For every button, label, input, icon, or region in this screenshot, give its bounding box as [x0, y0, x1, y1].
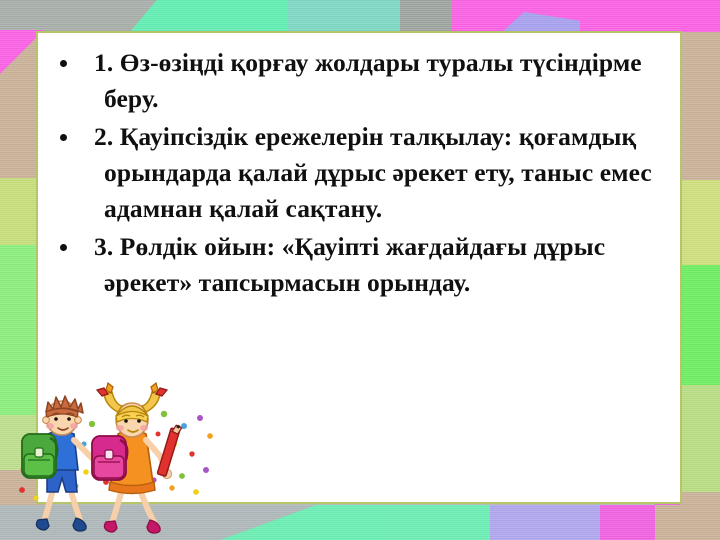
background-shape-right-green-2: [680, 385, 720, 500]
boy-backpack: [22, 434, 57, 478]
lesson-task-list: 1. Өз-өзіңді қорғау жолдары туралы түсін…: [56, 45, 656, 303]
background-shape-bottom-tan: [655, 505, 720, 540]
list-item: 1. Өз-өзіңді қорғау жолдары туралы түсін…: [56, 45, 656, 117]
background-shape-top-gray-2: [400, 0, 455, 34]
schoolchildren-svg: [14, 382, 224, 537]
pencil-icon: [157, 424, 182, 476]
list-item-text: 2. Қауіпсіздік ережелерін талқылау: қоға…: [94, 119, 656, 227]
girl-backpack: [92, 436, 127, 480]
background-shape-right-tan: [680, 32, 720, 187]
list-item-text: 3. Рөлдік ойын: «Қауіпті жағдайдағы дұры…: [94, 229, 656, 301]
background-shape-right-green: [680, 265, 720, 395]
list-item: 3. Рөлдік ойын: «Қауіпті жағдайдағы дұры…: [56, 229, 656, 301]
bullet-dot-icon: [60, 244, 67, 251]
slide-canvas: 1. Өз-өзіңді қорғау жолдары туралы түсін…: [0, 0, 720, 540]
boy-figure: [21, 396, 100, 531]
schoolchildren-illustration: [14, 382, 224, 537]
girl-figure: [92, 383, 182, 533]
background-shape-top-teal: [285, 0, 405, 34]
list-item-text: 1. Өз-өзіңді қорғау жолдары туралы түсін…: [94, 45, 656, 117]
bullet-dot-icon: [60, 60, 67, 67]
list-item: 2. Қауіпсіздік ережелерін талқылау: қоға…: [56, 119, 656, 227]
bullet-dot-icon: [60, 134, 67, 141]
